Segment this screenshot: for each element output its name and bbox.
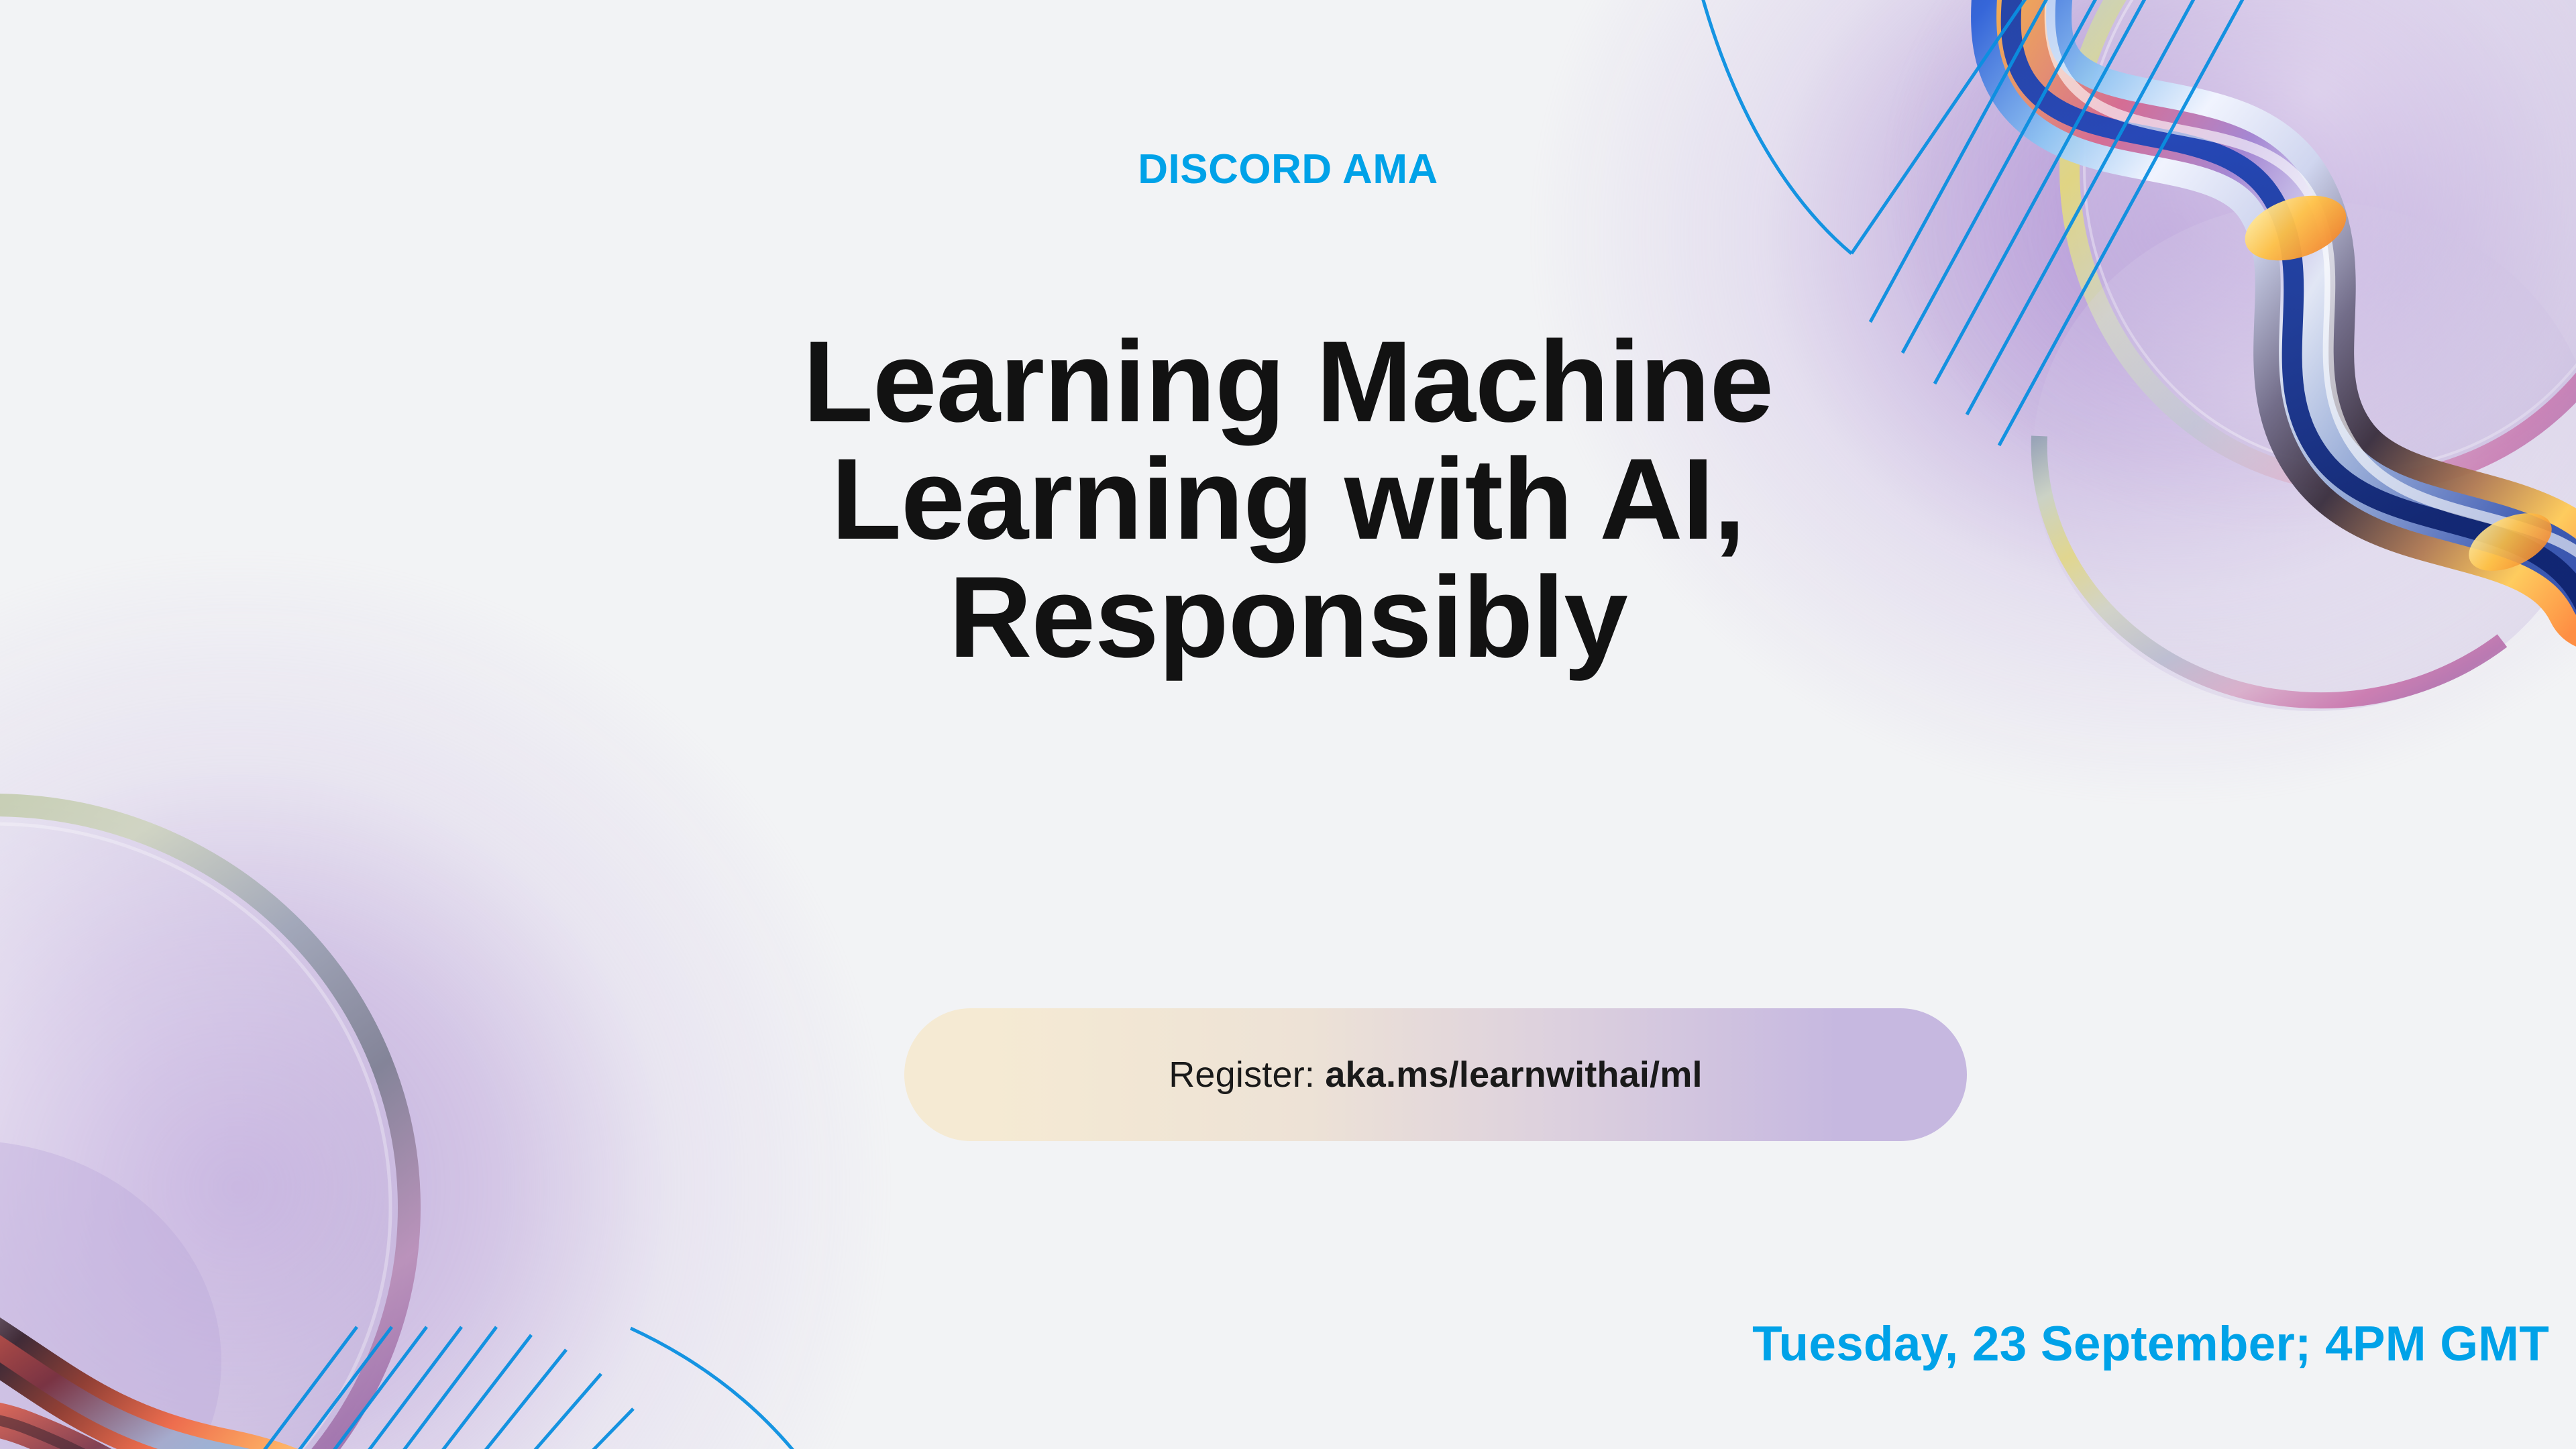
register-url[interactable]: aka.ms/learnwithai/ml xyxy=(1325,1055,1702,1095)
register-prefix: Register: xyxy=(1169,1055,1325,1095)
headline-line-2: Learning with AI, xyxy=(0,441,2576,558)
register-button[interactable]: Register: aka.ms/learnwithai/ml xyxy=(904,1008,1967,1141)
event-banner: DISCORD AMA Learning Machine Learning wi… xyxy=(0,0,2576,1449)
headline-line-1: Learning Machine xyxy=(0,323,2576,441)
event-schedule: Tuesday, 23 September; 4PM GMT xyxy=(1752,1316,2549,1372)
banner-content: DISCORD AMA Learning Machine Learning wi… xyxy=(0,0,2576,1449)
eyebrow-label: DISCORD AMA xyxy=(0,149,2576,191)
page-title: Learning Machine Learning with AI, Respo… xyxy=(0,323,2576,676)
headline-line-3: Responsibly xyxy=(0,559,2576,676)
register-label: Register: aka.ms/learnwithai/ml xyxy=(1169,1054,1703,1095)
